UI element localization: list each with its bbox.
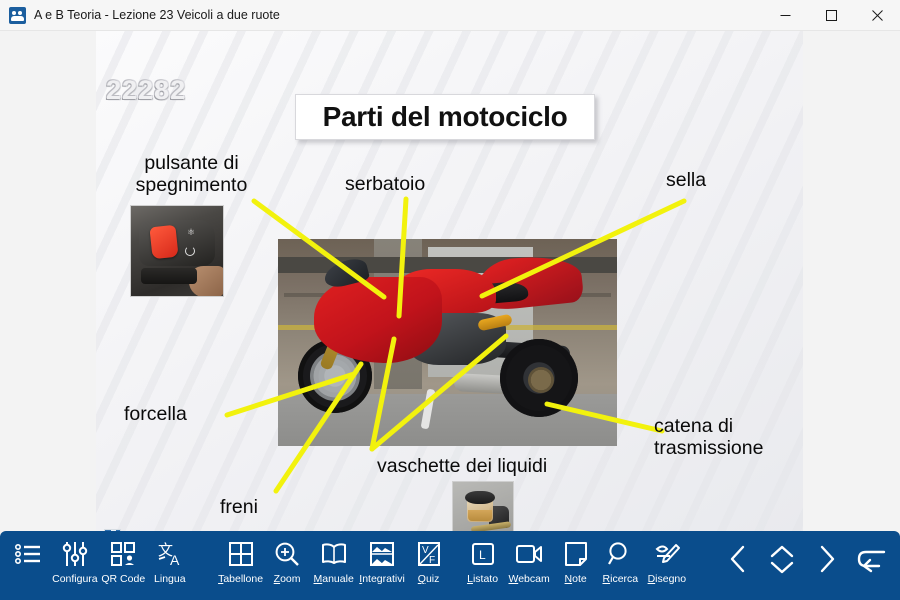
toolbar-item-qrcode[interactable]: QR Code [99,539,147,585]
callout-label-sella: sella [666,170,706,192]
toolbar-item-listato[interactable]: L Listato [460,539,505,585]
toolbar-item-integrativi[interactable]: Integrativi [358,539,406,585]
callout-label-pulsante: pulsante di spegnimento [109,153,274,197]
window-controls [762,0,900,31]
toolbar-item-lingua[interactable]: 文 A Lingua [147,539,192,585]
bike-sprocket [528,367,554,393]
grid-icon [229,539,253,569]
switch-run-symbol: ⚛ [187,228,196,237]
toolbar-label-manuale: Manuale [314,573,354,585]
pen-icon [654,539,680,569]
search-icon [608,539,632,569]
toolbar-item-webcam[interactable]: Webcam [505,539,553,585]
toolbar-item-list[interactable] [6,539,51,573]
bike-fairing [314,277,442,363]
accesskey-ricerca: R [603,573,611,585]
sliders-icon [63,539,87,569]
toolbar-item-manuale[interactable]: Manuale [309,539,357,585]
prev-button[interactable] [715,539,760,579]
title-bar: A e B Teoria - Lezione 23 Veicoli a due … [0,0,900,31]
toolbar-item-note[interactable]: Note [553,539,598,585]
toolbar-item-ricerca[interactable]: Ricerca [598,539,643,585]
webcam-icon [516,539,542,569]
next-button[interactable] [805,539,850,579]
toolbar-label-tabellone: Tabellone [218,573,263,585]
vf-card-icon: V F [417,539,441,569]
toolbar-label-lingua: Lingua [154,573,186,585]
list-icon [15,539,41,569]
reservoir-fluid [468,510,492,521]
callout-label-forcella: forcella [124,404,187,426]
toolbar-label-manuale-rest: anuale [322,573,354,585]
switch-red-button [149,225,178,260]
contacts-icon [9,7,26,24]
images-icon [370,539,394,569]
chevron-updown-icon [769,544,795,574]
toolbar-label-disegno-rest: isegno [655,573,686,585]
content-area: 22282 Parti del motociclo [0,31,900,600]
slide-title-plate: Parti del motociclo [295,94,595,140]
toolbar-label-zoom-rest: oom [280,573,300,585]
toolbar-label-tabellone-rest: abellone [223,573,263,585]
svg-text:F: F [429,555,435,566]
toolbar-item-quiz[interactable]: V F Quiz [406,539,451,585]
motorcycle-photo [278,239,617,446]
toolbar-label-listato-rest: istato [473,573,498,585]
toolbar-label-listato: Listato [467,573,498,585]
accesskey-webcam: W [508,573,518,585]
toolbar-label-integrativi: Integrativi [359,573,405,585]
callout-label-catena: catena di trasmissione [654,416,804,460]
toolbar-label-qrcode: QR Code [101,573,145,585]
return-arrow-icon [857,544,887,574]
l-box-icon: L [471,539,495,569]
toolbar-label-configura: Configura [52,573,98,585]
zoom-in-icon [275,539,299,569]
switch-off-symbol [185,246,195,256]
toolbar-label-webcam: Webcam [508,573,549,585]
chevron-right-icon [817,544,837,574]
callout-label-vaschette: vaschette dei liquidi [377,456,547,478]
accesskey-note: N [565,573,573,585]
bike-stand [421,389,436,430]
bottom-toolbar: Configura QR Code 文 A [0,531,900,600]
toolbar-label-note: Note [565,573,587,585]
toolbar-label-ricerca: Ricerca [603,573,639,585]
slide-number: 22282 [106,75,186,106]
book-icon [321,539,347,569]
toolbar-label-zoom: Zoom [274,573,301,585]
toolbar-item-disegno[interactable]: Disegno [643,539,691,585]
toolbar-label-integrativi-rest: ntegrativi [362,573,405,585]
callout-label-freni: freni [220,497,258,519]
svg-text:L: L [479,548,486,562]
toolbar-label-note-rest: ote [572,573,587,585]
qrcode-icon [111,539,135,569]
accesskey-manuale: M [314,573,323,585]
toolbar-item-zoom[interactable]: Zoom [265,539,310,585]
toolbar-label-webcam-rest: ebcam [518,573,550,585]
toolbar-label-ricerca-rest: icerca [610,573,638,585]
translate-icon: 文 A [157,539,183,569]
app-window: A e B Teoria - Lezione 23 Veicoli a due … [0,0,900,600]
back-button[interactable] [849,539,894,579]
callout-label-serbatoio: serbatoio [345,174,425,196]
slide-canvas[interactable]: 22282 Parti del motociclo [96,31,803,531]
kill-switch-photo: ⚛ [130,205,224,297]
accesskey-quiz: Q [418,573,426,585]
switch-lower-housing [141,268,197,284]
chevron-left-icon [728,544,748,574]
toolbar-label-quiz-rest: uiz [426,573,439,585]
toolbar-item-tabellone[interactable]: Tabellone [216,539,264,585]
page-title: Parti del motociclo [323,101,568,133]
close-icon[interactable] [854,0,900,31]
svg-text:V: V [422,545,429,556]
updown-button[interactable] [760,539,805,579]
reservoir-cap [465,491,495,504]
toolbar-item-configura[interactable]: Configura [51,539,99,585]
maximize-icon[interactable] [808,0,854,31]
minimize-icon[interactable] [762,0,808,31]
toolbar-label-quiz: Quiz [418,573,440,585]
title-bar-left: A e B Teoria - Lezione 23 Veicoli a due … [0,7,280,24]
toolbar-label-disegno: Disegno [648,573,687,585]
svg-text:A: A [170,552,180,568]
window-title: A e B Teoria - Lezione 23 Veicoli a due … [34,8,280,22]
note-icon [565,539,587,569]
